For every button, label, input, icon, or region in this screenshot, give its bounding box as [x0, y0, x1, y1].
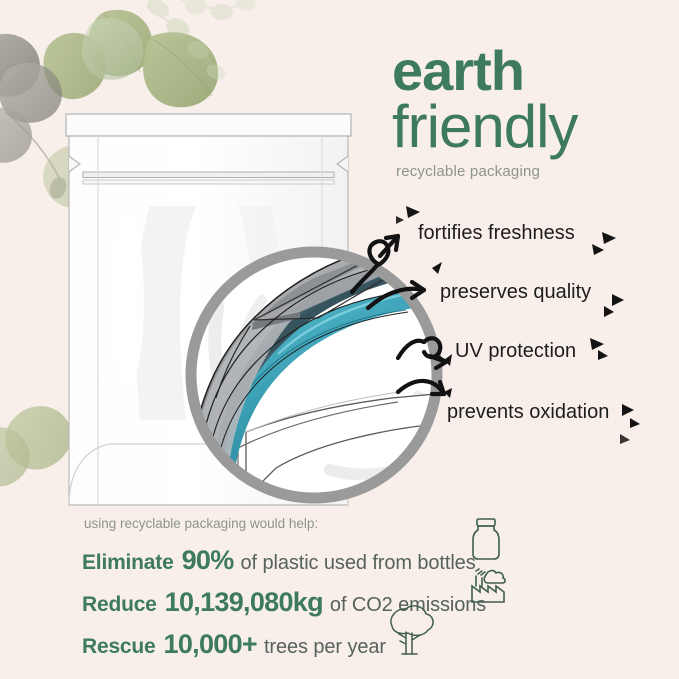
arrow-prevents: [398, 381, 444, 394]
stat-tail: of plastic used from bottles: [241, 552, 476, 575]
arrow-uv: [398, 338, 446, 368]
feature-label-preserves-quality: preserves quality: [440, 281, 591, 304]
stat-verb: Reduce: [82, 593, 157, 617]
stats-intro-text: using recyclable packaging would help:: [84, 516, 602, 531]
bottle-icon: [466, 516, 506, 562]
feature-label-fortifies-freshness: fortifies freshness: [418, 222, 575, 245]
arrow-preserves: [368, 282, 424, 308]
stat-tail: trees per year: [264, 636, 386, 659]
feature-label-uv-protection: UV protection: [455, 340, 576, 363]
stat-row-eliminate: Eliminate 90% of plastic used from bottl…: [82, 545, 602, 575]
stat-value: 10,139,080kg: [165, 587, 323, 618]
poster-canvas: earth friendly recyclable packaging fort…: [0, 0, 679, 679]
title-line-earth: earth: [392, 44, 662, 97]
headline-block: earth friendly recyclable packaging: [392, 44, 662, 180]
stat-row-reduce: Reduce 10,139,080kg of CO2 emissions: [82, 587, 602, 617]
tree-icon: [378, 604, 442, 660]
headline-subtitle: recyclable packaging: [396, 163, 662, 180]
stat-verb: Eliminate: [82, 551, 174, 575]
title-line-friendly: friendly: [392, 97, 662, 157]
feature-label-prevents-oxidation: prevents oxidation: [447, 401, 609, 424]
arrow-fortifies: [352, 236, 398, 292]
stat-value: 90%: [182, 545, 234, 576]
stat-verb: Rescue: [82, 635, 156, 659]
stat-row-rescue: Rescue 10,000+ trees per year: [82, 629, 602, 659]
factory-icon: [466, 562, 510, 606]
stats-block: using recyclable packaging would help: E…: [82, 516, 602, 671]
stat-value: 10,000+: [164, 629, 257, 660]
